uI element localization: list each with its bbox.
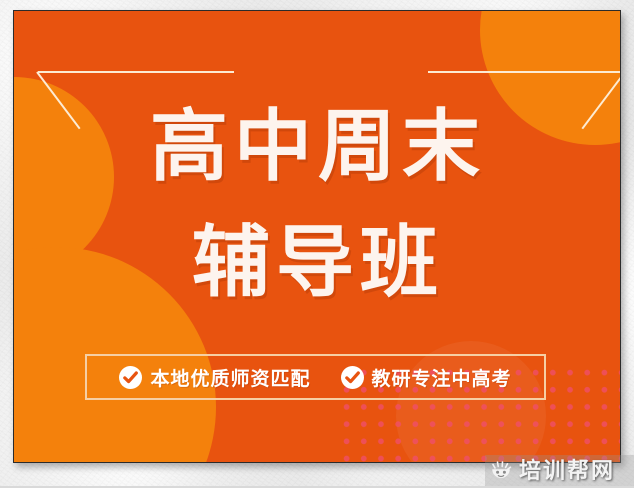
feature-badge-2: 教研专注中高考 — [341, 364, 512, 391]
watermark-text: 培训帮网 — [519, 459, 615, 483]
feature-badge-strip: 本地优质师资匹配 教研专注中高考 — [85, 354, 546, 400]
sun-face-logo-icon — [489, 459, 513, 483]
watermark: 培训帮网 — [485, 455, 634, 486]
check-circle-icon — [341, 366, 364, 389]
title-line-2: 辅导班 — [14, 223, 620, 301]
poster-frame: 高中周末 辅导班 本地优质师资匹配 教研专注中高考 — [13, 10, 621, 463]
feature-badge-2-label: 教研专注中高考 — [372, 364, 512, 391]
poster-canvas: 高中周末 辅导班 本地优质师资匹配 教研专注中高考 — [14, 11, 620, 462]
feature-badge-1-label: 本地优质师资匹配 — [150, 364, 310, 391]
feature-badge-1: 本地优质师资匹配 — [119, 364, 310, 391]
check-circle-icon — [119, 366, 142, 389]
title-line-1: 高中周末 — [14, 107, 620, 185]
